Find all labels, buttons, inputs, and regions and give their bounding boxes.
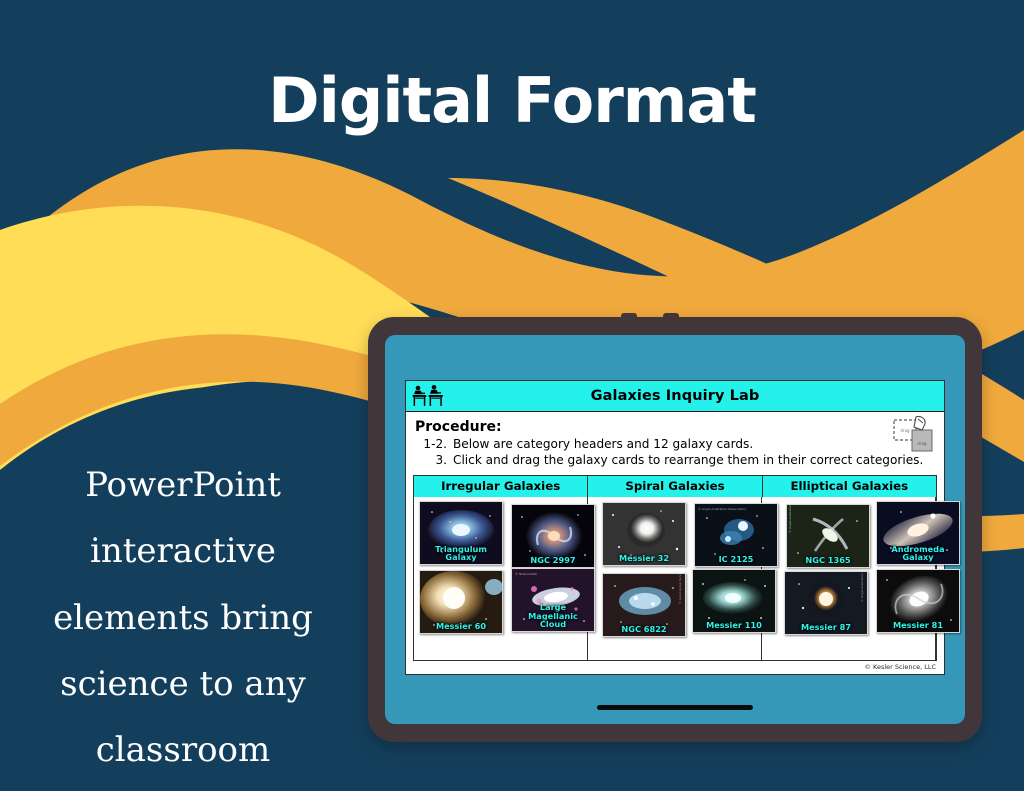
category-header-row: Irregular Galaxies Spiral Galaxies Ellip… (413, 475, 937, 497)
procedure-step-2-text: Click and drag the galaxy cards to rearr… (453, 453, 923, 467)
procedure-heading: Procedure: (415, 419, 935, 435)
galaxy-cards-area[interactable]: Triangulum Galaxy (413, 497, 937, 661)
galaxy-card-label: Triangulum Galaxy (420, 545, 502, 562)
procedure-step-2-number: 3. (415, 453, 447, 469)
tablet-button-top-right (663, 313, 679, 321)
tablet-button-top-left (621, 313, 637, 321)
galaxy-card-label: Messier 60 (420, 622, 502, 631)
galaxy-card-label: Messier 87 (785, 623, 867, 632)
galaxy-card-label: Andromeda Galaxy (877, 545, 959, 562)
galaxy-card-label: Messier 32 (603, 554, 685, 563)
students-at-desks-icon (412, 384, 446, 408)
slide-title: Galaxies Inquiry Lab (406, 388, 944, 404)
tablet-device: Galaxies Inquiry Lab Procedure: 1-2.Belo… (368, 317, 982, 742)
galaxy-card[interactable]: Messier 32 (602, 502, 686, 566)
caption-text: PowerPoint interactive elements bring sc… (18, 452, 348, 783)
svg-text:© Local Group Survey: © Local Group Survey (678, 574, 682, 604)
slide-header-bar: Galaxies Inquiry Lab (406, 381, 944, 412)
galaxy-card-label: IC 2125 (695, 555, 777, 564)
category-header-irregular[interactable]: Irregular Galaxies (414, 476, 588, 497)
drag-and-drop-icon: drag drag (892, 414, 936, 456)
galaxy-card[interactable]: Messier 110 (692, 569, 776, 633)
galaxy-card[interactable]: NGC 2997 (511, 504, 595, 568)
galaxy-card[interactable]: © Anglo-Australian Obs. NGC 1365 (786, 504, 870, 568)
procedure-step-1-text: Below are category headers and 12 galaxy… (453, 437, 753, 451)
procedure-step-1: 1-2.Below are category headers and 12 ga… (415, 437, 935, 453)
galaxy-card-label: Messier 81 (877, 621, 959, 630)
galaxy-card[interactable]: Messier 60 (419, 570, 503, 634)
category-header-spiral[interactable]: Spiral Galaxies (588, 476, 762, 497)
galaxy-card-label: NGC 6822 (603, 625, 685, 634)
galaxy-card[interactable]: © Anglo-Australian Observatory Messier 8… (784, 571, 868, 635)
galaxy-card[interactable]: © Local Group Survey NGC 6822 (602, 573, 686, 637)
tablet-home-indicator[interactable] (597, 705, 753, 710)
poster-canvas: Digital Format PowerPoint interactive el… (0, 0, 1024, 791)
svg-text:© Anglo-Australian Obs.: © Anglo-Australian Obs. (788, 505, 792, 533)
galaxy-card-label: NGC 2997 (512, 556, 594, 565)
galaxy-card[interactable]: © NOAA/AURA Large Magellanic Cloud (511, 568, 595, 632)
slide-footer-copyright: © Kesler Science, LLC (406, 661, 944, 674)
page-title: Digital Format (0, 64, 1024, 137)
galaxy-card-label: Large Magellanic Cloud (512, 603, 594, 629)
galaxy-card[interactable]: Triangulum Galaxy (419, 501, 503, 565)
svg-text:© Anglo-Australian Observatory: © Anglo-Australian Observatory (860, 572, 864, 602)
galaxy-card-label: NGC 1365 (787, 556, 869, 565)
svg-text:drag: drag (917, 441, 927, 446)
galaxy-card[interactable]: Andromeda Galaxy (876, 501, 960, 565)
svg-text:drag: drag (900, 428, 910, 433)
powerpoint-slide[interactable]: Galaxies Inquiry Lab Procedure: 1-2.Belo… (405, 380, 945, 675)
tablet-screen: Galaxies Inquiry Lab Procedure: 1-2.Belo… (385, 335, 965, 724)
galaxy-card[interactable]: Messier 81 (876, 569, 960, 633)
svg-text:© Anglo-Australian Observatory: © Anglo-Australian Observatory (698, 507, 746, 511)
category-header-elliptical[interactable]: Elliptical Galaxies (763, 476, 936, 497)
procedure-step-1-number: 1-2. (415, 437, 447, 453)
procedure-step-2: 3.Click and drag the galaxy cards to rea… (415, 453, 935, 469)
galaxy-card[interactable]: © Anglo-Australian Observatory IC 2125 (694, 503, 778, 567)
galaxy-card-label: Messier 110 (693, 621, 775, 630)
svg-text:© NOAA/AURA: © NOAA/AURA (515, 572, 538, 576)
procedure-block: Procedure: 1-2.Below are category header… (406, 412, 944, 471)
